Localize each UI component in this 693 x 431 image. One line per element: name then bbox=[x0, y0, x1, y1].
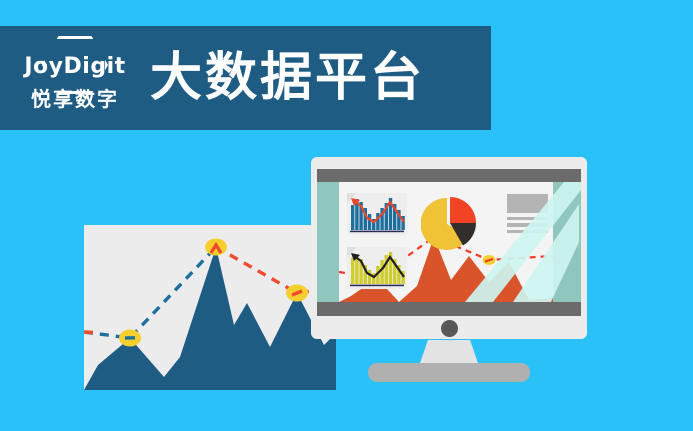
page-title: 大数据平台 bbox=[150, 52, 425, 104]
screen-side-band-right bbox=[553, 182, 581, 302]
bar-chart-card-blue[interactable] bbox=[347, 193, 407, 235]
desktop-monitor bbox=[311, 157, 587, 382]
pie-slice-b[interactable] bbox=[450, 197, 476, 223]
screen-side-band-left bbox=[317, 182, 339, 302]
bar-chart-yellow-svg bbox=[347, 247, 407, 289]
bar-series-blue bbox=[351, 198, 405, 230]
mountain-chart-svg bbox=[84, 225, 336, 390]
mountain-silhouette bbox=[84, 247, 336, 390]
monitor-stand-base bbox=[368, 363, 530, 382]
card-axis-line bbox=[350, 285, 404, 287]
monitor-bezel-bottom bbox=[317, 302, 581, 316]
brand-name-cn: 悦享数字 bbox=[31, 90, 119, 110]
text-line bbox=[507, 230, 548, 233]
text-block-placeholder bbox=[507, 194, 548, 230]
trend-line-red-stub bbox=[84, 332, 93, 333]
mountain-chart-panel bbox=[84, 225, 336, 390]
power-button[interactable] bbox=[441, 320, 458, 337]
poster-canvas: JoyDigit 悦享数字 大数据平台 bbox=[0, 0, 693, 431]
brand-name-en: JoyDigit bbox=[24, 56, 125, 78]
monitor-screen[interactable] bbox=[317, 182, 581, 302]
image-placeholder bbox=[507, 194, 548, 213]
monitor-bezel-top bbox=[317, 169, 581, 182]
card-axis-line bbox=[350, 231, 404, 233]
bar-chart-blue-svg bbox=[347, 193, 407, 235]
text-line bbox=[507, 223, 548, 226]
bar-chart-card-yellow[interactable] bbox=[347, 247, 407, 289]
header-banner: JoyDigit 悦享数字 大数据平台 bbox=[0, 26, 491, 130]
pie-chart[interactable] bbox=[421, 194, 479, 252]
text-line bbox=[507, 217, 548, 220]
brand-logo: JoyDigit 悦享数字 bbox=[14, 34, 136, 122]
